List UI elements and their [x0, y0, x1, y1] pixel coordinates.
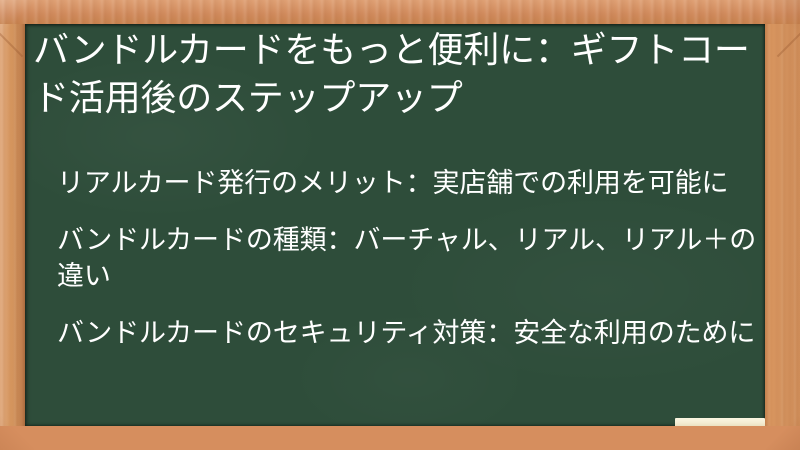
frame-rail-bottom [0, 425, 800, 450]
list-item: バンドルカードの種類：バーチャル、リアル、リアル＋の違い [57, 223, 757, 296]
chalkboard-content: バンドルカードをもっと便利に：ギフトコード活用後のステップアップ リアルカード発… [25, 24, 765, 426]
topic-list: リアルカード発行のメリット：実店舗での利用を可能に バンドルカードの種類：バーチ… [57, 166, 757, 353]
frame-rail-right [764, 0, 800, 450]
page-title: バンドルカードをもっと便利に：ギフトコード活用後のステップアップ [33, 27, 755, 123]
chalkboard-surface: バンドルカードをもっと便利に：ギフトコード活用後のステップアップ リアルカード発… [25, 24, 765, 426]
frame-rail-left [0, 0, 25, 450]
frame-rail-top [0, 0, 800, 24]
chalk-stick-icon [675, 418, 765, 426]
list-item: バンドルカードのセキュリティ対策：安全な利用のために [57, 316, 757, 353]
chalkboard-frame: バンドルカードをもっと便利に：ギフトコード活用後のステップアップ リアルカード発… [0, 0, 800, 450]
list-item: リアルカード発行のメリット：実店舗での利用を可能に [57, 166, 757, 203]
